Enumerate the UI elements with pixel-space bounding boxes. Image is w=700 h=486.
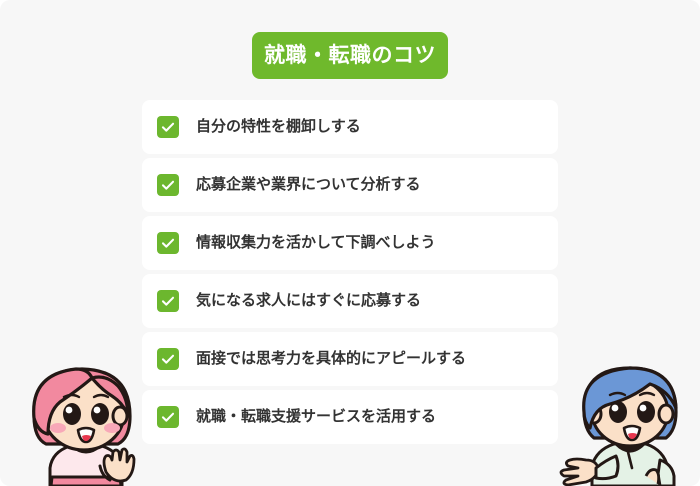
list-item-label: 面接では思考力を具体的にアピールする	[196, 350, 466, 368]
list-item[interactable]: 気になる求人にはすぐに応募する	[142, 274, 558, 328]
checklist: 自分の特性を棚卸しする 応募企業や業界について分析する 情報収集力を活かして下調…	[142, 100, 558, 444]
check-mark-icon	[157, 290, 179, 312]
list-item[interactable]: 自分の特性を棚卸しする	[142, 100, 558, 154]
list-item[interactable]: 就職・転職支援サービスを活用する	[142, 390, 558, 444]
check-mark-icon	[157, 406, 179, 428]
check-mark-icon	[157, 116, 179, 138]
list-item-label: 就職・転職支援サービスを活用する	[196, 408, 436, 426]
check-mark-icon	[157, 348, 179, 370]
list-item-label: 情報収集力を活かして下調べしよう	[196, 234, 436, 252]
list-item-label: 自分の特性を棚卸しする	[196, 118, 361, 136]
page-title-badge: 就職・転職のコツ	[252, 32, 448, 79]
page-title: 就職・転職のコツ	[264, 45, 436, 66]
list-item[interactable]: 応募企業や業界について分析する	[142, 158, 558, 212]
boy-character-illustration	[546, 364, 698, 486]
list-item[interactable]: 情報収集力を活かして下調べしよう	[142, 216, 558, 270]
check-mark-icon	[157, 232, 179, 254]
list-item-label: 気になる求人にはすぐに応募する	[196, 292, 421, 310]
check-mark-icon	[157, 174, 179, 196]
page-canvas: 就職・転職のコツ 自分の特性を棚卸しする 応募企業や業界について分析する	[0, 0, 700, 486]
list-item-label: 応募企業や業界について分析する	[196, 176, 421, 194]
girl-character-illustration	[14, 364, 154, 486]
list-item[interactable]: 面接では思考力を具体的にアピールする	[142, 332, 558, 386]
